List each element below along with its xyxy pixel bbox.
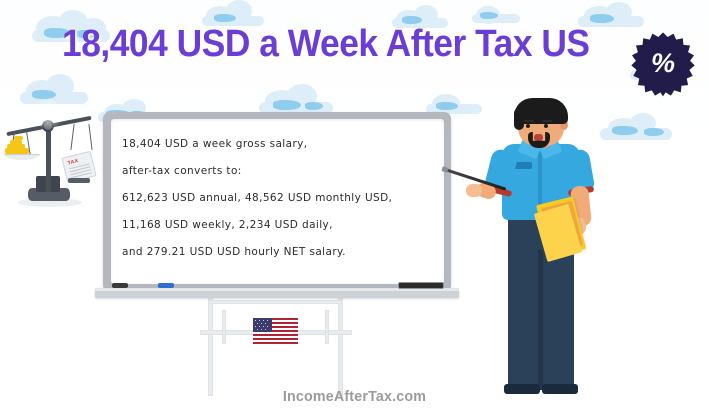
eye-right: [544, 124, 548, 128]
easel-crossbar-upper: [208, 300, 343, 304]
percent-badge-icon: %: [630, 31, 696, 97]
whiteboard: 18,404 USD a week gross salary, after-ta…: [103, 112, 451, 292]
whiteboard-line-3: 612,623 USD annual, 48,562 USD monthly U…: [122, 185, 440, 212]
easel-leg-left: [208, 296, 213, 396]
whiteboard-line-4: 11,168 USD weekly, 2,234 USD daily,: [122, 212, 440, 239]
easel-leg-right: [338, 296, 343, 396]
eyebrow-left: [524, 120, 534, 122]
eye-left: [526, 124, 530, 128]
whiteboard-line-2: after-tax converts to:: [122, 158, 440, 185]
hand-left: [466, 184, 482, 197]
leg-gap: [538, 250, 543, 390]
easel-bracket-left: [222, 310, 226, 344]
whiteboard-line-5: and 279.21 USD USD hourly NET salary.: [122, 239, 440, 266]
percent-symbol: %: [630, 31, 696, 97]
hair-side: [514, 108, 524, 130]
marker-blue: [158, 283, 174, 288]
eyebrow-right: [542, 120, 552, 122]
scale-pan-left: [4, 154, 40, 160]
easel-bracket-right: [325, 310, 329, 344]
us-flag-icon: [253, 318, 298, 344]
whiteboard-tray: [95, 288, 459, 298]
infographic-canvas: 18,404 USD a Week After Tax US % TAX: [0, 0, 709, 419]
eraser: [398, 282, 444, 289]
whiteboard-surface: 18,404 USD a week gross salary, after-ta…: [111, 119, 444, 284]
whiteboard-line-1: 18,404 USD a week gross salary,: [122, 131, 440, 158]
teacher-figure: [480, 100, 610, 400]
mouth: [534, 134, 543, 141]
page-title: 18,404 USD a Week After Tax US: [62, 22, 601, 66]
balance-scale-icon: TAX: [2, 98, 114, 220]
site-watermark: IncomeAfterTax.com: [18, 388, 692, 405]
whiteboard-text: 18,404 USD a week gross salary, after-ta…: [122, 131, 440, 266]
marker-black: [112, 283, 128, 288]
